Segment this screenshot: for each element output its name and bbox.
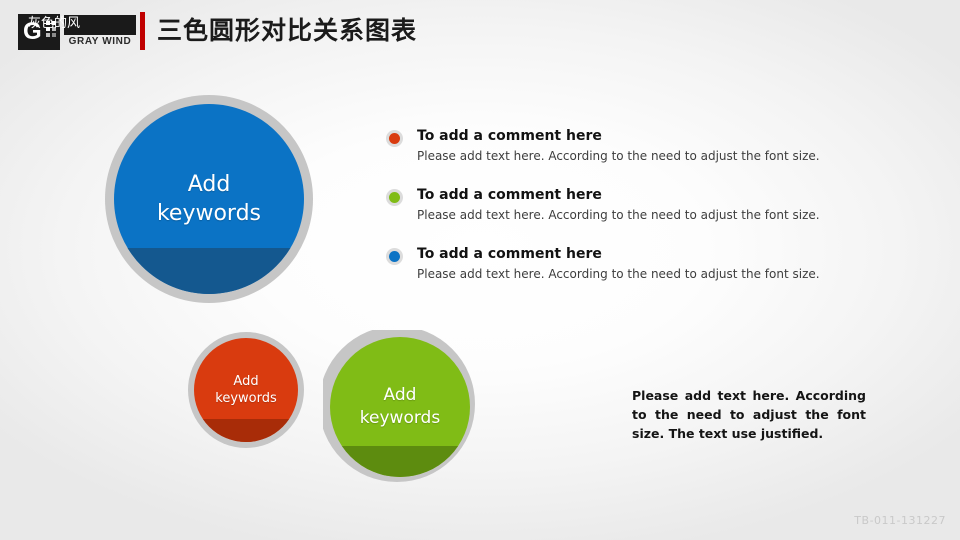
circle-shade-green	[330, 446, 470, 477]
list-item-title: To add a comment here	[417, 127, 886, 146]
bullet-dot-fill	[389, 133, 400, 144]
slide-canvas: G 灰色的风 GRAY WIND 三色圆形对比关系图表 Add keywords…	[0, 0, 960, 540]
list-item-desc: Please add text here. According to the n…	[417, 266, 886, 283]
note-paragraph: Please add text here. According to the n…	[632, 386, 866, 443]
bullet-dot-fill	[389, 192, 400, 203]
list-item[interactable]: To add a comment here Please add text he…	[386, 245, 886, 283]
list-item[interactable]: To add a comment here Please add text he…	[386, 186, 886, 224]
list-item-desc: Please add text here. According to the n…	[417, 148, 886, 165]
bullet-dot-icon	[386, 130, 403, 147]
brand-logo: G 灰色的风 GRAY WIND	[18, 14, 136, 50]
page-title: 三色圆形对比关系图表	[157, 15, 417, 47]
circle-disc-orange: Add keywords	[194, 338, 298, 442]
list-item-title: To add a comment here	[417, 245, 886, 264]
list-item[interactable]: To add a comment here Please add text he…	[386, 127, 886, 165]
circle-shade-orange	[194, 419, 298, 442]
circle-disc-blue: Add keywords	[114, 104, 304, 294]
circle-node-green[interactable]: Add keywords	[323, 330, 491, 488]
list-item-desc: Please add text here. According to the n…	[417, 207, 886, 224]
title-divider-rule	[140, 12, 145, 50]
circle-disc-green: Add keywords	[330, 337, 470, 477]
circle-node-blue[interactable]: Add keywords	[105, 95, 313, 315]
template-code-watermark: TB-011-131227	[854, 514, 946, 528]
bullet-dot-fill	[389, 251, 400, 262]
circle-label-orange: Add keywords	[194, 373, 298, 407]
circle-shade-blue	[114, 248, 304, 294]
list-item-title: To add a comment here	[417, 186, 886, 205]
bullet-dot-icon	[386, 248, 403, 265]
circle-label-green: Add keywords	[330, 384, 470, 430]
note-text: Please add text here. According to the n…	[632, 388, 866, 441]
comment-list: To add a comment here Please add text he…	[386, 127, 886, 304]
logo-en-name: GRAY WIND	[64, 36, 136, 48]
circle-label-blue: Add keywords	[114, 170, 304, 228]
circle-node-orange[interactable]: Add keywords	[188, 332, 310, 448]
logo-cn-name: 灰色的风	[18, 14, 90, 34]
slide-header: G 灰色的风 GRAY WIND 三色圆形对比关系图表	[0, 0, 960, 62]
bullet-dot-icon	[386, 189, 403, 206]
